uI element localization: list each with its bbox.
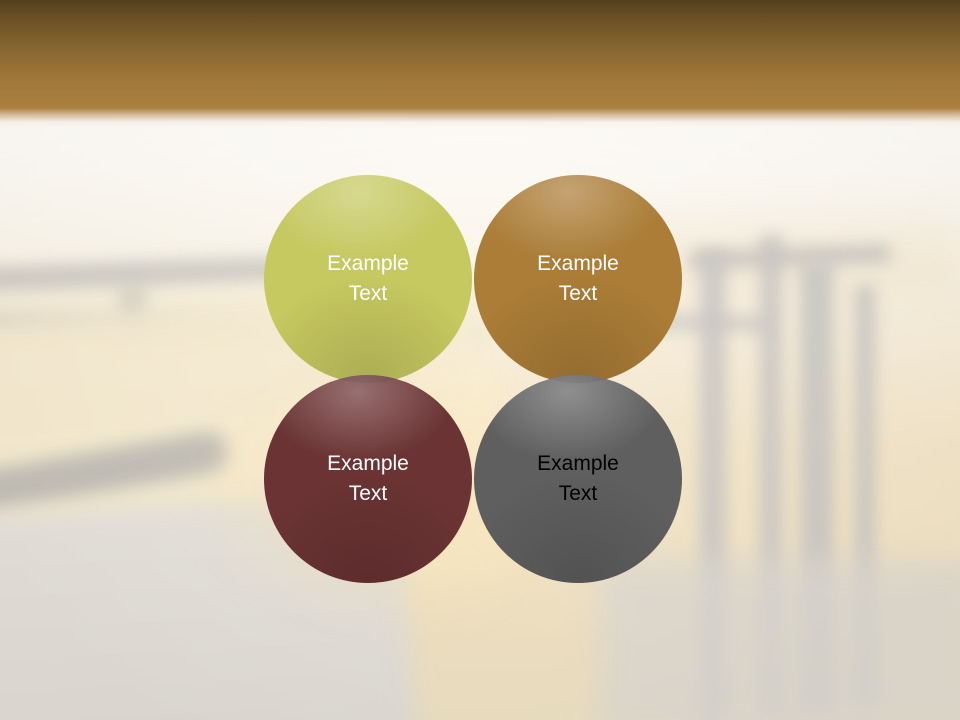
- circle-top-left-line1: Example: [327, 252, 409, 275]
- circle-top-left-label: Example Text: [327, 249, 409, 309]
- title-banner: [0, 0, 960, 108]
- background-shadow: [0, 428, 231, 523]
- background-desk-leg: [800, 262, 834, 712]
- circle-bottom-right-label: Example Text: [537, 449, 619, 509]
- background-desk-crossbar: [690, 245, 891, 270]
- circle-top-right[interactable]: Example Text: [474, 175, 682, 383]
- background-desk-panel: [600, 560, 960, 720]
- background-desk-leg: [700, 250, 726, 720]
- circle-top-right-line2: Text: [559, 282, 598, 305]
- circle-bottom-right-line1: Example: [537, 452, 619, 475]
- circle-top-left[interactable]: Example Text: [264, 175, 472, 383]
- circle-top-left-line2: Text: [349, 282, 388, 305]
- circle-bottom-left-line2: Text: [349, 482, 388, 505]
- background-desk-post: [120, 290, 146, 350]
- circle-bottom-right-line2: Text: [559, 482, 598, 505]
- circle-bottom-right[interactable]: Example Text: [474, 375, 682, 583]
- circle-top-right-line1: Example: [537, 252, 619, 275]
- background-desk-leg: [855, 285, 875, 705]
- circle-bottom-left[interactable]: Example Text: [264, 375, 472, 583]
- slide-canvas: Circles – Your Title Text Here Example T…: [0, 0, 960, 720]
- title-banner-fade: [0, 108, 960, 128]
- circle-top-right-label: Example Text: [537, 249, 619, 309]
- circle-bottom-left-label: Example Text: [327, 449, 409, 509]
- background-desk-leg: [760, 235, 782, 715]
- circles-group: Example Text Example Text Example Text E…: [264, 175, 682, 583]
- circle-bottom-left-line1: Example: [327, 452, 409, 475]
